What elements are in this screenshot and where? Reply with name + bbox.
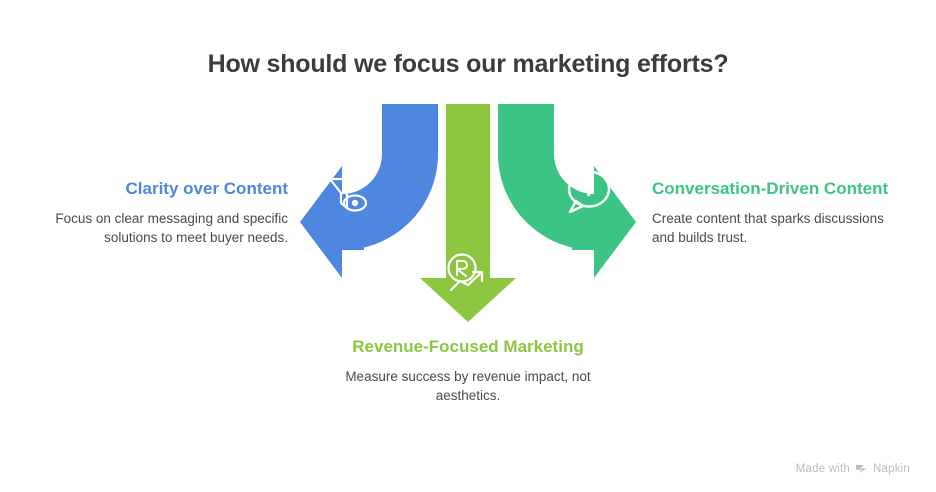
watermark-brand: Napkin [873, 463, 910, 475]
branch-left-body: Focus on clear messaging and specific so… [36, 200, 288, 247]
curved-arrow-left [300, 104, 438, 278]
diagram-canvas: How should we focus our marketing effort… [0, 0, 936, 492]
branch-right-heading: Conversation-Driven Content [652, 178, 904, 200]
branch-bottom: Revenue-Focused Marketing Measure succes… [320, 336, 616, 405]
branch-left-heading: Clarity over Content [36, 178, 288, 200]
branch-bottom-heading: Revenue-Focused Marketing [320, 336, 616, 358]
svg-text:?: ? [583, 180, 595, 201]
branch-left: Clarity over Content Focus on clear mess… [36, 178, 288, 247]
branch-right: Conversation-Driven Content Create conte… [652, 178, 904, 247]
branch-right-body: Create content that sparks discussions a… [652, 200, 904, 247]
napkin-logo-icon [855, 462, 868, 475]
branch-bottom-body: Measure success by revenue impact, not a… [320, 358, 616, 405]
watermark-prefix: Made with [796, 463, 850, 475]
curved-arrow-right: ? [498, 104, 636, 278]
napkin-watermark: Made with Napkin [796, 462, 910, 475]
